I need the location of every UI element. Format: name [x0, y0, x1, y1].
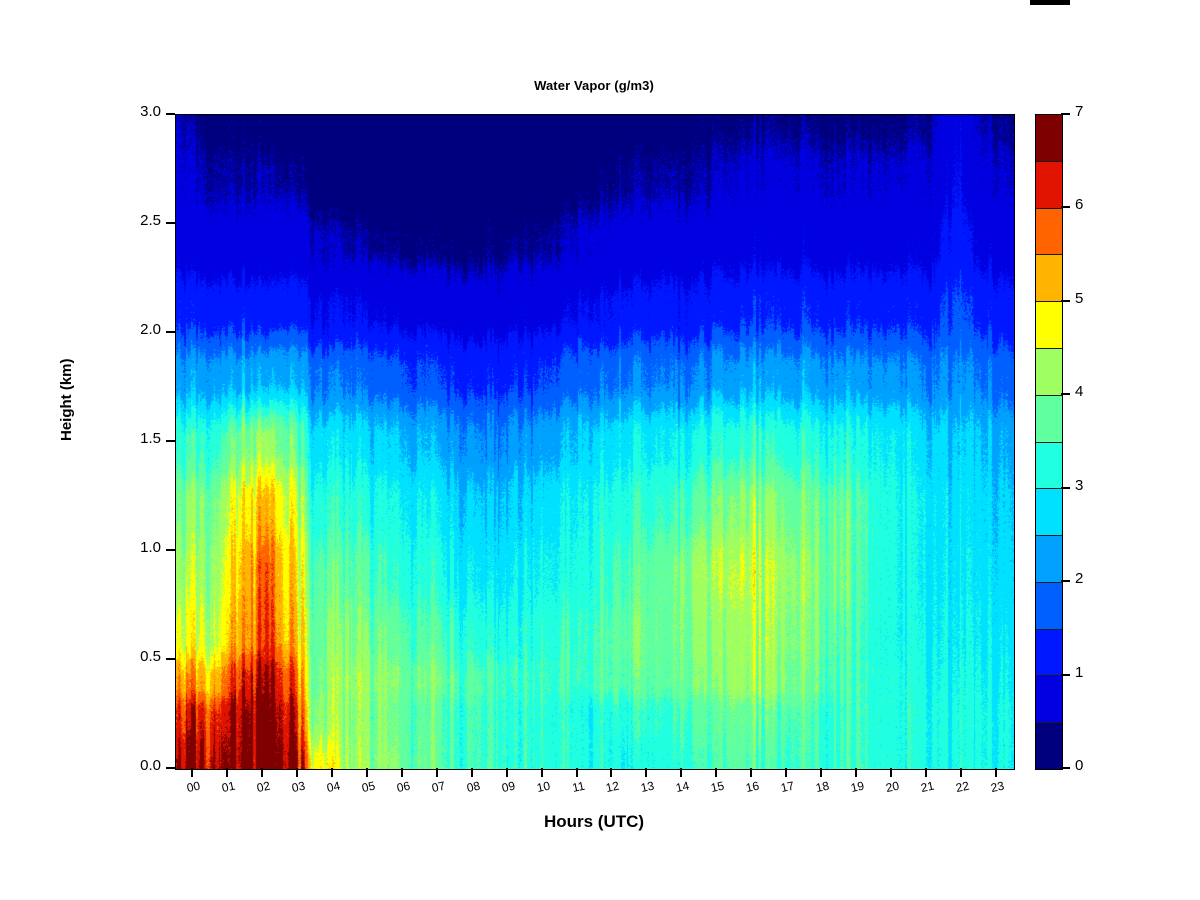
colorbar-tick-mark: [1061, 674, 1070, 676]
x-tick-mark: [960, 768, 962, 777]
y-tick-label: 1.0: [140, 539, 161, 556]
colorbar-tick-mark: [1061, 580, 1070, 582]
x-tick-mark: [750, 768, 752, 777]
x-tick-mark: [366, 768, 368, 777]
colorbar-tick-mark: [1061, 393, 1070, 395]
x-tick-mark: [925, 768, 927, 777]
y-tick-label: 3.0: [140, 103, 161, 120]
colorbar-band: [1036, 348, 1062, 395]
x-tick-mark: [645, 768, 647, 777]
x-tick-mark: [576, 768, 578, 777]
x-tick-label: 09: [500, 779, 516, 795]
y-axis: 0.00.51.01.52.02.53.0: [0, 114, 175, 768]
x-tick-mark: [191, 768, 193, 777]
colorbar-band: [1036, 535, 1062, 582]
y-tick-mark: [166, 549, 175, 551]
colorbar-ticks: 01234567: [1061, 114, 1121, 768]
x-tick-label: 12: [605, 779, 621, 795]
x-tick-mark: [541, 768, 543, 777]
x-tick-label: 00: [186, 779, 202, 795]
heatmap-plot-panel: [175, 114, 1015, 770]
water-vapor-heatmap: [176, 115, 1014, 769]
x-tick-label: 16: [745, 779, 761, 795]
colorbar-tick-label: 4: [1075, 383, 1083, 400]
colorbar-tick-label: 0: [1075, 757, 1083, 774]
x-tick-mark: [890, 768, 892, 777]
x-tick-mark: [610, 768, 612, 777]
colorbar-tick-label: 5: [1075, 290, 1083, 307]
x-tick-label: 15: [710, 779, 726, 795]
colorbar-tick-label: 3: [1075, 477, 1083, 494]
x-tick-label: 20: [884, 779, 900, 795]
x-tick-mark: [471, 768, 473, 777]
x-tick-mark: [401, 768, 403, 777]
x-tick-mark: [506, 768, 508, 777]
colorbar-band: [1036, 442, 1062, 489]
colorbar-band: [1036, 208, 1062, 255]
x-tick-label: 01: [221, 779, 237, 795]
x-tick-label: 02: [256, 779, 272, 795]
y-tick-mark: [166, 767, 175, 769]
colorbar-tick-mark: [1061, 487, 1070, 489]
x-tick-label: 10: [535, 779, 551, 795]
x-tick-mark: [785, 768, 787, 777]
colorbar-band: [1036, 582, 1062, 629]
colorbar-band: [1036, 395, 1062, 442]
colorbar: [1035, 114, 1063, 770]
x-tick-mark: [995, 768, 997, 777]
x-tick-label: 13: [640, 779, 656, 795]
colorbar-tick-label: 7: [1075, 103, 1083, 120]
colorbar-band: [1036, 115, 1062, 161]
water-vapor-figure: Water Vapor (g/m3) 0.00.51.01.52.02.53.0…: [0, 0, 1200, 900]
colorbar-band: [1036, 488, 1062, 535]
y-tick-mark: [166, 113, 175, 115]
x-tick-label: 23: [989, 779, 1005, 795]
x-tick-mark: [226, 768, 228, 777]
x-tick-label: 08: [465, 779, 481, 795]
colorbar-tick-mark: [1061, 113, 1070, 115]
x-tick-label: 05: [360, 779, 376, 795]
x-tick-mark: [261, 768, 263, 777]
x-tick-mark: [715, 768, 717, 777]
colorbar-band: [1036, 722, 1062, 769]
x-tick-label: 14: [675, 779, 691, 795]
x-tick-label: 18: [814, 779, 830, 795]
y-tick-mark: [166, 222, 175, 224]
colorbar-tick-label: 2: [1075, 570, 1083, 587]
y-tick-mark: [166, 331, 175, 333]
x-tick-label: 04: [326, 779, 342, 795]
colorbar-band: [1036, 161, 1062, 208]
x-tick-label: 06: [395, 779, 411, 795]
colorbar-tick-label: 6: [1075, 196, 1083, 213]
x-tick-label: 19: [849, 779, 865, 795]
colorbar-tick-mark: [1061, 206, 1070, 208]
y-tick-mark: [166, 440, 175, 442]
y-tick-label: 2.0: [140, 321, 161, 338]
y-tick-label: 2.5: [140, 212, 161, 229]
colorbar-tick-mark: [1061, 300, 1070, 302]
x-axis-title: Hours (UTC): [175, 812, 1013, 832]
y-tick-label: 1.5: [140, 430, 161, 447]
colorbar-tick-label: 1: [1075, 664, 1083, 681]
x-tick-label: 11: [570, 779, 585, 795]
x-tick-label: 17: [779, 779, 795, 795]
y-tick-label: 0.5: [140, 648, 161, 665]
x-tick-mark: [855, 768, 857, 777]
colorbar-band: [1036, 629, 1062, 676]
y-axis-title-label: Height (km): [58, 359, 75, 442]
y-tick-mark: [166, 658, 175, 660]
x-tick-label: 22: [954, 779, 970, 795]
x-tick-mark: [820, 768, 822, 777]
x-tick-mark: [436, 768, 438, 777]
y-tick-label: 0.0: [140, 757, 161, 774]
page-title: Water Vapor (g/m3): [175, 78, 1013, 93]
colorbar-band: [1036, 254, 1062, 301]
x-tick-mark: [331, 768, 333, 777]
x-tick-label: 07: [430, 779, 446, 795]
x-tick-mark: [680, 768, 682, 777]
x-tick-mark: [296, 768, 298, 777]
colorbar-tick-mark: [1061, 767, 1070, 769]
x-tick-label: 03: [291, 779, 307, 795]
x-tick-label: 21: [919, 779, 935, 795]
colorbar-band: [1036, 675, 1062, 722]
clipped-artifact-bar: [1030, 0, 1070, 5]
colorbar-band: [1036, 301, 1062, 348]
